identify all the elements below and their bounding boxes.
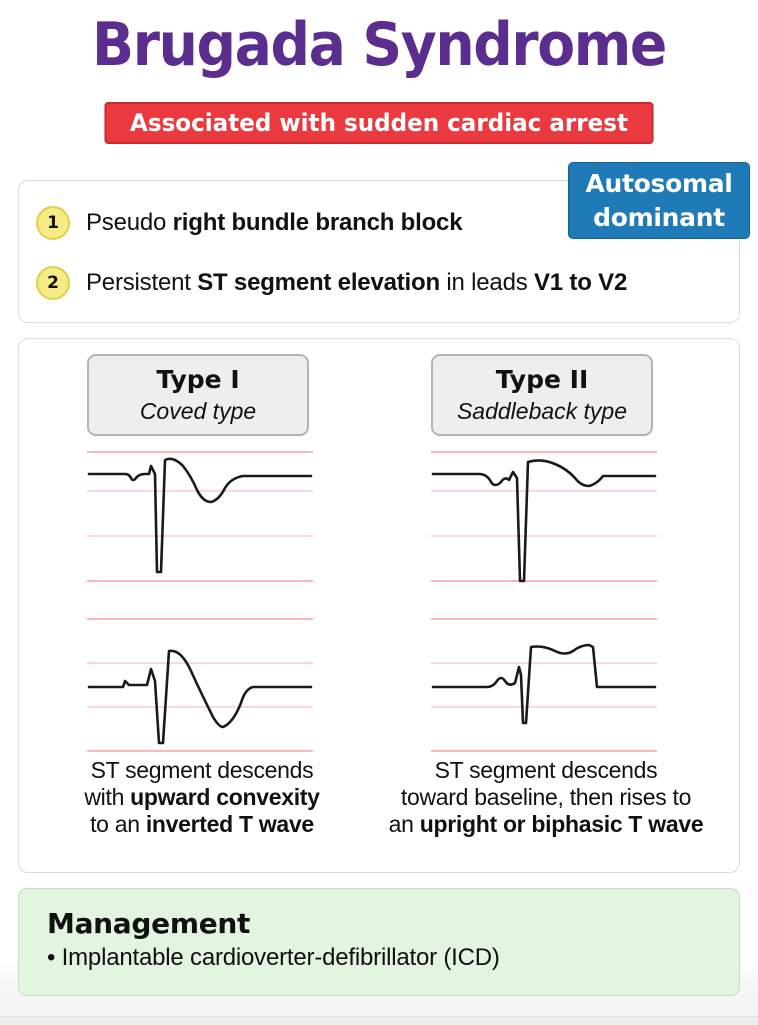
ecg-tracing-type2-lower <box>431 611 657 761</box>
feature-row: 1 Pseudo right bundle branch block <box>36 206 462 240</box>
ecg-tracing-type1-lower <box>87 611 313 761</box>
feature-text: Pseudo right bundle branch block <box>86 209 462 237</box>
ecg-waveform <box>433 645 655 723</box>
ecg-tracing-type1-upper <box>87 444 313 594</box>
inheritance-badge-line2: dominant <box>593 203 725 232</box>
feature-row: 2 Persistent ST segment elevation in lea… <box>36 266 627 300</box>
type-2-title: Type II <box>433 364 651 396</box>
ecg-gridlines <box>87 619 313 751</box>
ecg-tracing-type2-upper <box>431 444 657 594</box>
management-title: Management <box>47 907 739 941</box>
feature-number-badge: 2 <box>36 266 70 300</box>
infographic-page: Brugada Syndrome Associated with sudden … <box>0 0 758 1024</box>
association-banner: Associated with sudden cardiac arrest <box>104 102 653 144</box>
page-title: Brugada Syndrome <box>30 8 727 82</box>
ecg-gridlines <box>431 452 657 581</box>
type-2-caption: ST segment descendstoward baseline, then… <box>381 757 711 838</box>
type-1-title: Type I <box>89 364 307 396</box>
feature-text: Persistent ST segment elevation in leads… <box>86 269 627 297</box>
type-1-header: Type I Coved type <box>87 354 309 436</box>
ecg-gridlines <box>87 452 313 581</box>
inheritance-badge-line1: Autosomal <box>585 169 732 198</box>
feature-number-badge: 1 <box>36 206 70 240</box>
ecg-waveform <box>433 460 655 581</box>
ecg-comparison-panel: Type I Coved type Type II Saddleback typ… <box>18 338 740 873</box>
management-item: • Implantable cardioverter-defibrillator… <box>47 941 739 975</box>
type-2-header: Type II Saddleback type <box>431 354 653 436</box>
type-1-subtitle: Coved type <box>89 396 307 426</box>
ecg-waveform <box>89 459 311 572</box>
management-panel: Management • Implantable cardioverter-de… <box>18 888 740 996</box>
type-2-subtitle: Saddleback type <box>433 396 651 426</box>
type-1-caption: ST segment descendswith upward convexity… <box>37 757 367 838</box>
inheritance-badge: Autosomal dominant <box>568 162 750 239</box>
ecg-waveform <box>89 651 311 743</box>
ecg-gridlines <box>431 619 657 751</box>
